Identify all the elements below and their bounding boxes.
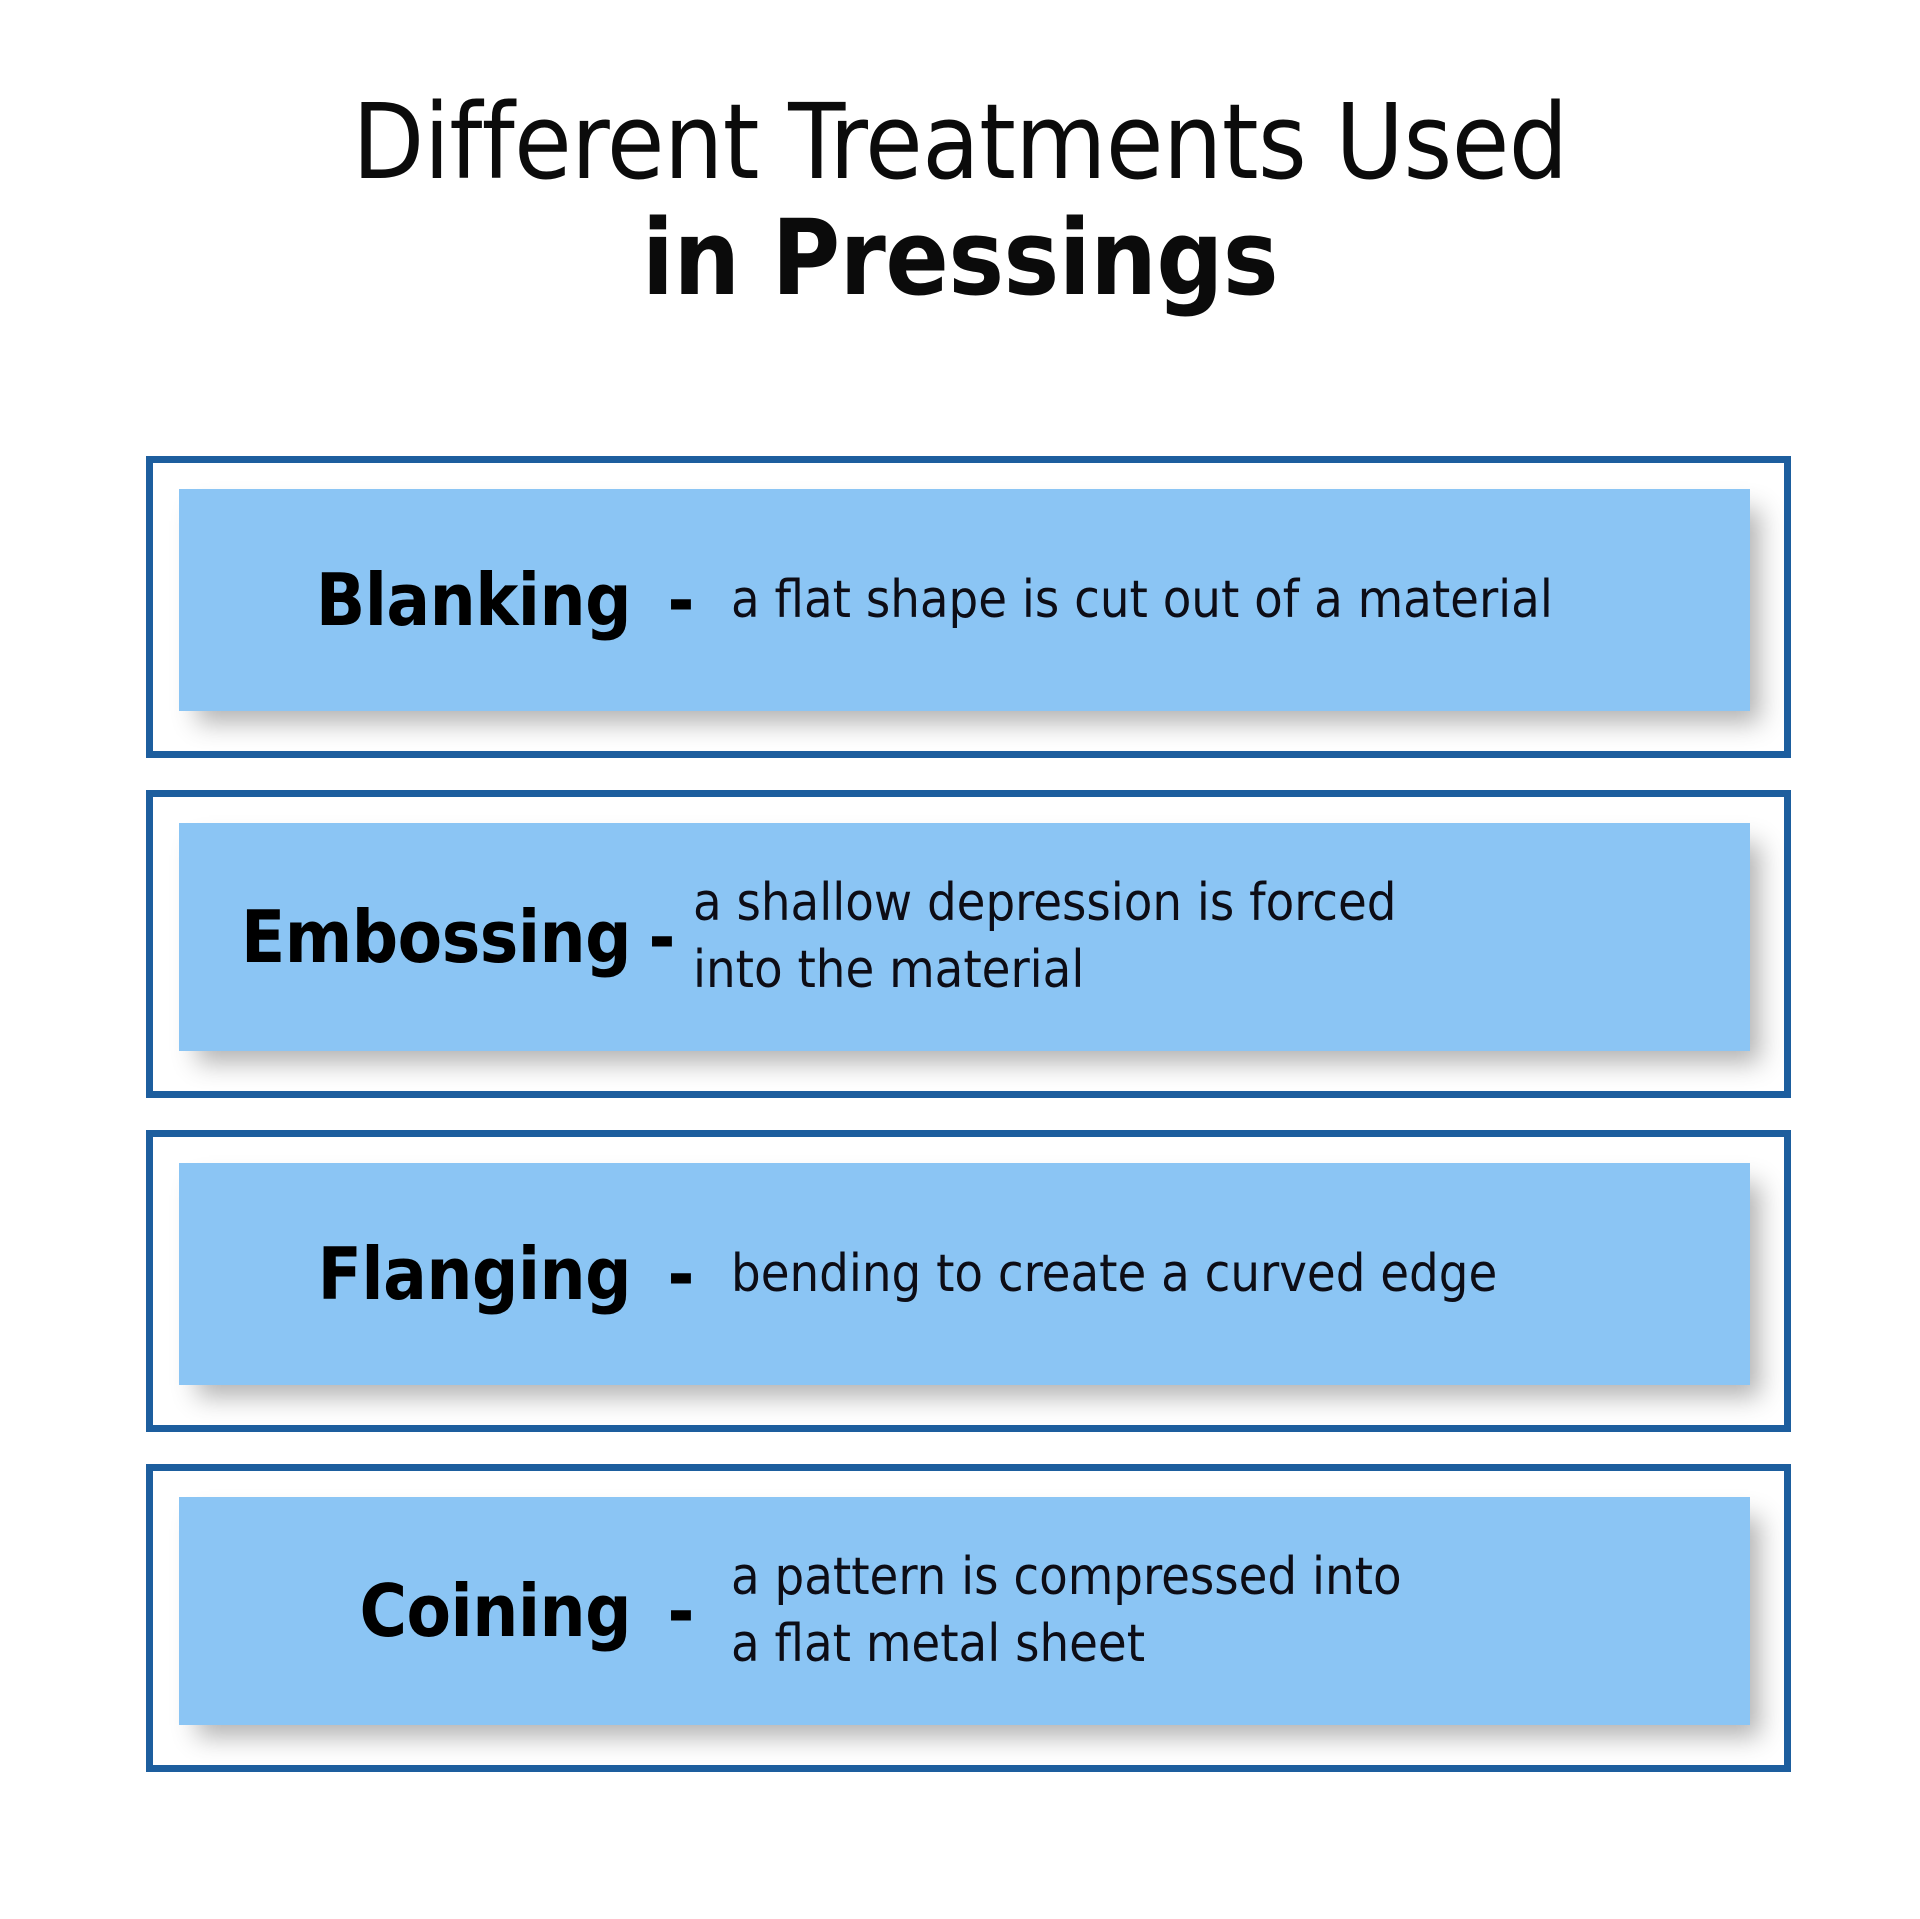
separator-dash: - xyxy=(631,1238,731,1310)
treatment-term: Flanging xyxy=(179,1238,631,1310)
card-body: Coining - a pattern is compressed into a… xyxy=(179,1497,1750,1725)
card-row: Coining - a pattern is compressed into a… xyxy=(179,1544,1750,1677)
treatment-card-coining: Coining - a pattern is compressed into a… xyxy=(146,1464,1791,1772)
page-title-line-1: Different Treatments Used xyxy=(0,84,1920,200)
separator-dash: - xyxy=(631,1575,731,1647)
treatment-card-list: Blanking - a flat shape is cut out of a … xyxy=(146,456,1791,1772)
treatment-card-embossing: Embossing - a shallow depression is forc… xyxy=(146,790,1791,1098)
treatment-term: Blanking xyxy=(179,564,631,636)
card-body: Flanging - bending to create a curved ed… xyxy=(179,1163,1750,1385)
card-row: Flanging - bending to create a curved ed… xyxy=(179,1238,1750,1310)
card-body: Embossing - a shallow depression is forc… xyxy=(179,823,1750,1051)
treatment-description: a flat shape is cut out of a material xyxy=(731,567,1750,634)
treatment-term: Embossing xyxy=(179,901,631,973)
treatment-card-blanking: Blanking - a flat shape is cut out of a … xyxy=(146,456,1791,758)
page-title-line-2: in Pressings xyxy=(0,200,1920,316)
treatment-description: a shallow depression is forced into the … xyxy=(693,870,1750,1003)
treatment-card-flanging: Flanging - bending to create a curved ed… xyxy=(146,1130,1791,1432)
card-row: Embossing - a shallow depression is forc… xyxy=(179,870,1750,1003)
treatment-description: bending to create a curved edge xyxy=(731,1241,1750,1308)
treatment-term: Coining xyxy=(179,1575,631,1647)
separator-dash: - xyxy=(631,564,731,636)
card-row: Blanking - a flat shape is cut out of a … xyxy=(179,564,1750,636)
page-title: Different Treatments Used in Pressings xyxy=(0,0,1920,317)
separator-dash: - xyxy=(631,901,693,973)
card-body: Blanking - a flat shape is cut out of a … xyxy=(179,489,1750,711)
treatment-description: a pattern is compressed into a flat meta… xyxy=(731,1544,1750,1677)
